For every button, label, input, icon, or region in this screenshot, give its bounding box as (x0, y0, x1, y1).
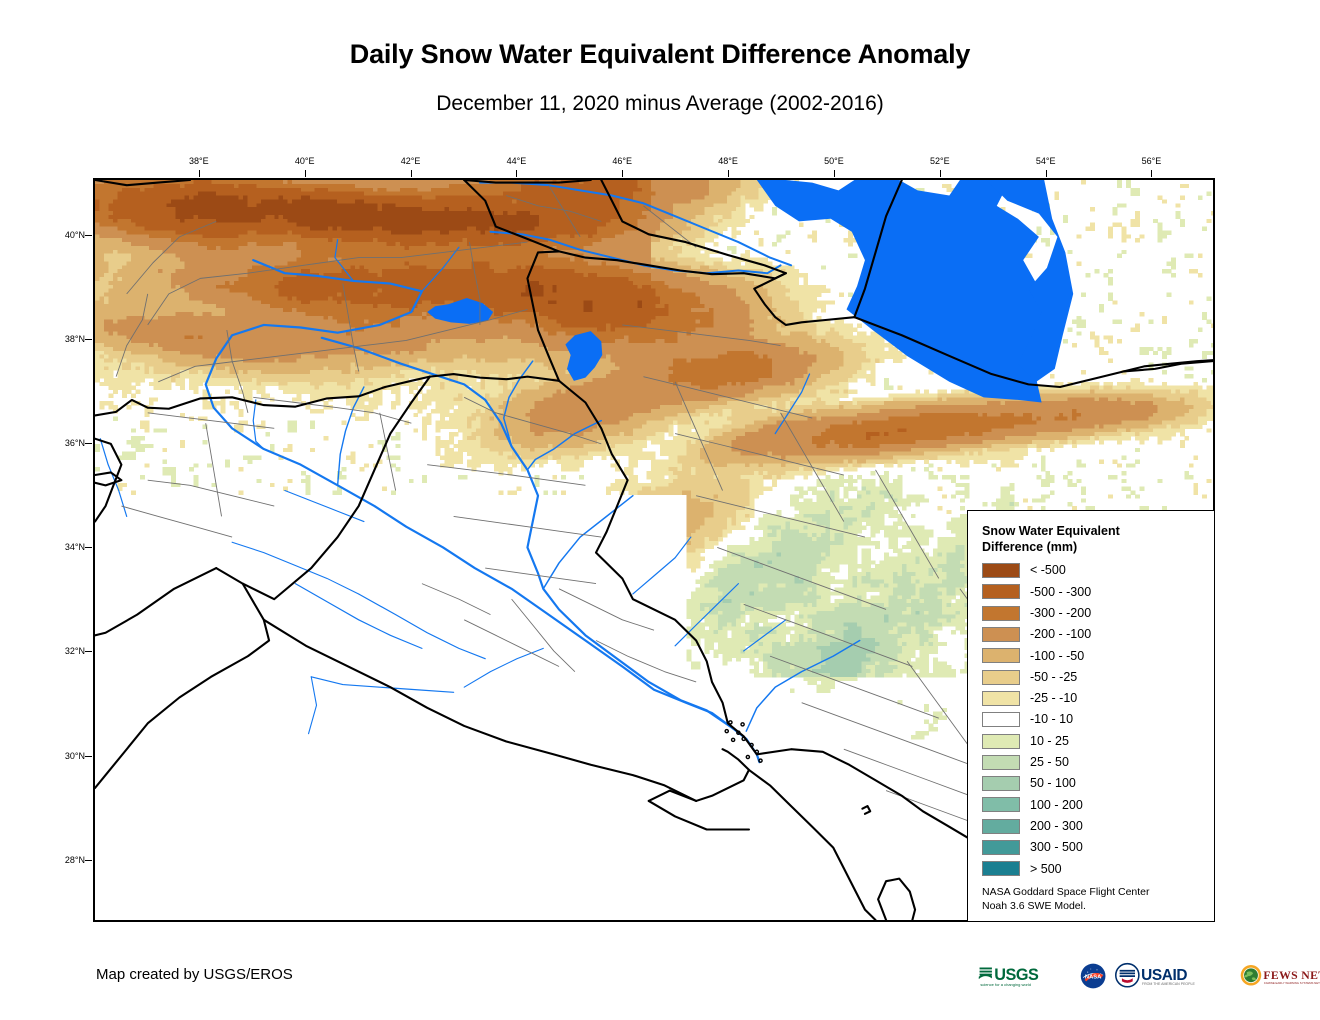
legend-class-label: 200 - 300 (1030, 820, 1083, 833)
lat-tick (85, 235, 92, 236)
lon-tick (199, 170, 200, 177)
lat-label: 40°N (45, 230, 85, 240)
legend-class-label: 10 - 25 (1030, 735, 1069, 748)
legend-class-label: > 500 (1030, 863, 1062, 876)
legend-class-label: -200 - -100 (1030, 628, 1091, 641)
legend-title: Snow Water Equivalent Difference (mm) (982, 523, 1204, 555)
legend-swatch (982, 563, 1020, 578)
lat-label: 30°N (45, 751, 85, 761)
lon-label: 54°E (1036, 156, 1056, 166)
legend-swatch (982, 840, 1020, 855)
lat-label: 34°N (45, 542, 85, 552)
legend-class-row: -25 - -10 (982, 688, 1204, 709)
legend-class-label: -500 - -300 (1030, 586, 1091, 599)
legend-swatch (982, 776, 1020, 791)
lon-tick (1046, 170, 1047, 177)
nasa-logo: NASA (1080, 961, 1106, 991)
map-legend: Snow Water Equivalent Difference (mm) < … (967, 510, 1215, 922)
lat-label: 36°N (45, 438, 85, 448)
lon-label: 48°E (718, 156, 738, 166)
legend-swatch (982, 606, 1020, 621)
legend-source-note: NASA Goddard Space Flight Center Noah 3.… (982, 886, 1204, 913)
legend-class-label: < -500 (1030, 564, 1066, 577)
legend-swatch (982, 819, 1020, 834)
legend-swatch (982, 584, 1020, 599)
legend-class-label: 300 - 500 (1030, 841, 1083, 854)
legend-class-row: 25 - 50 (982, 752, 1204, 773)
lat-label: 28°N (45, 855, 85, 865)
legend-class-label: -10 - 10 (1030, 713, 1073, 726)
legend-swatch (982, 691, 1020, 706)
legend-class-label: 100 - 200 (1030, 799, 1083, 812)
legend-class-row: 200 - 300 (982, 816, 1204, 837)
lat-tick (85, 339, 92, 340)
lon-label: 52°E (930, 156, 950, 166)
legend-title-line1: Snow Water Equivalent (982, 523, 1204, 539)
fewsnet-logo: FEWS NET FAMINE EARLY WARNING SYSTEMS NE… (1240, 961, 1320, 991)
lon-label: 42°E (401, 156, 421, 166)
agency-logo-bar: USGS science for a changing world NASA U… (978, 956, 1320, 996)
lon-label: 46°E (612, 156, 632, 166)
legend-note-line1: NASA Goddard Space Flight Center (982, 886, 1204, 900)
legend-class-label: -50 - -25 (1030, 671, 1077, 684)
legend-class-row: -200 - -100 (982, 624, 1204, 645)
legend-class-row: > 500 (982, 858, 1204, 879)
legend-class-label: 25 - 50 (1030, 756, 1069, 769)
legend-class-label: -25 - -10 (1030, 692, 1077, 705)
legend-swatch (982, 797, 1020, 812)
lat-tick (85, 443, 92, 444)
legend-note-line2: Noah 3.6 SWE Model. (982, 900, 1204, 914)
lon-label: 44°E (507, 156, 527, 166)
legend-class-row: -10 - 10 (982, 709, 1204, 730)
usaid-logo: USAID FROM THE AMERICAN PEOPLE (1115, 961, 1231, 991)
legend-class-label: -300 - -200 (1030, 607, 1091, 620)
legend-class-row: -300 - -200 (982, 603, 1204, 624)
legend-swatch (982, 861, 1020, 876)
lon-tick (411, 170, 412, 177)
legend-class-row: 100 - 200 (982, 794, 1204, 815)
legend-class-label: 50 - 100 (1030, 777, 1076, 790)
lat-tick (85, 860, 92, 861)
lon-label: 38°E (189, 156, 209, 166)
lat-tick (85, 756, 92, 757)
lat-tick (85, 651, 92, 652)
title-block: Daily Snow Water Equivalent Difference A… (0, 0, 1320, 115)
legend-swatch (982, 648, 1020, 663)
lat-label: 38°N (45, 334, 85, 344)
legend-swatch (982, 627, 1020, 642)
legend-class-label: -100 - -50 (1030, 650, 1084, 663)
legend-class-row: 300 - 500 (982, 837, 1204, 858)
lon-tick (834, 170, 835, 177)
legend-class-row: < -500 (982, 560, 1204, 581)
lat-label: 32°N (45, 646, 85, 656)
legend-swatch (982, 670, 1020, 685)
lon-label: 40°E (295, 156, 315, 166)
usgs-logo: USGS science for a changing world (978, 961, 1071, 991)
legend-swatch (982, 755, 1020, 770)
legend-class-row: -50 - -25 (982, 666, 1204, 687)
legend-class-row: -100 - -50 (982, 645, 1204, 666)
legend-swatch (982, 712, 1020, 727)
lon-tick (622, 170, 623, 177)
page-title: Daily Snow Water Equivalent Difference A… (0, 40, 1320, 70)
page-subtitle: December 11, 2020 minus Average (2002-20… (0, 92, 1320, 115)
lon-tick (728, 170, 729, 177)
legend-title-line2: Difference (mm) (982, 539, 1204, 555)
lat-tick (85, 547, 92, 548)
lon-label: 50°E (824, 156, 844, 166)
legend-class-row: 50 - 100 (982, 773, 1204, 794)
lon-tick (305, 170, 306, 177)
lon-tick (940, 170, 941, 177)
lon-tick (1151, 170, 1152, 177)
lon-tick (516, 170, 517, 177)
legend-class-list: < -500-500 - -300-300 - -200-200 - -100-… (982, 560, 1204, 879)
map-credit: Map created by USGS/EROS (96, 966, 293, 983)
legend-class-row: -500 - -300 (982, 581, 1204, 602)
lon-label: 56°E (1142, 156, 1162, 166)
legend-swatch (982, 734, 1020, 749)
legend-class-row: 10 - 25 (982, 730, 1204, 751)
